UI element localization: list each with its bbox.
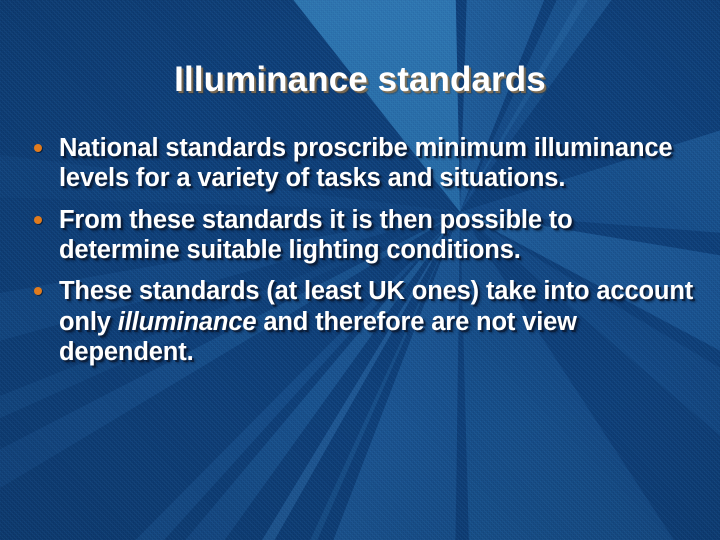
- list-item: These standards (at least UK ones) take …: [28, 276, 700, 367]
- bullet-item-text: These standards (at least UK ones) take …: [59, 276, 700, 367]
- dot-bullet-icon: [34, 144, 42, 152]
- bullet-item-text: From these standards it is then possible…: [59, 205, 700, 266]
- slide-title: Illuminance standards: [0, 62, 720, 99]
- bullet-list: National standards proscribe minimum ill…: [28, 133, 700, 378]
- list-item: From these standards it is then possible…: [28, 205, 700, 266]
- dot-bullet-icon: [34, 287, 42, 295]
- bullet-item-text: National standards proscribe minimum ill…: [59, 133, 700, 194]
- presentation-slide: Illuminance standards National standards…: [0, 0, 720, 540]
- dot-bullet-icon: [34, 216, 42, 224]
- list-item: National standards proscribe minimum ill…: [28, 133, 700, 194]
- slide-content: Illuminance standards National standards…: [0, 0, 720, 540]
